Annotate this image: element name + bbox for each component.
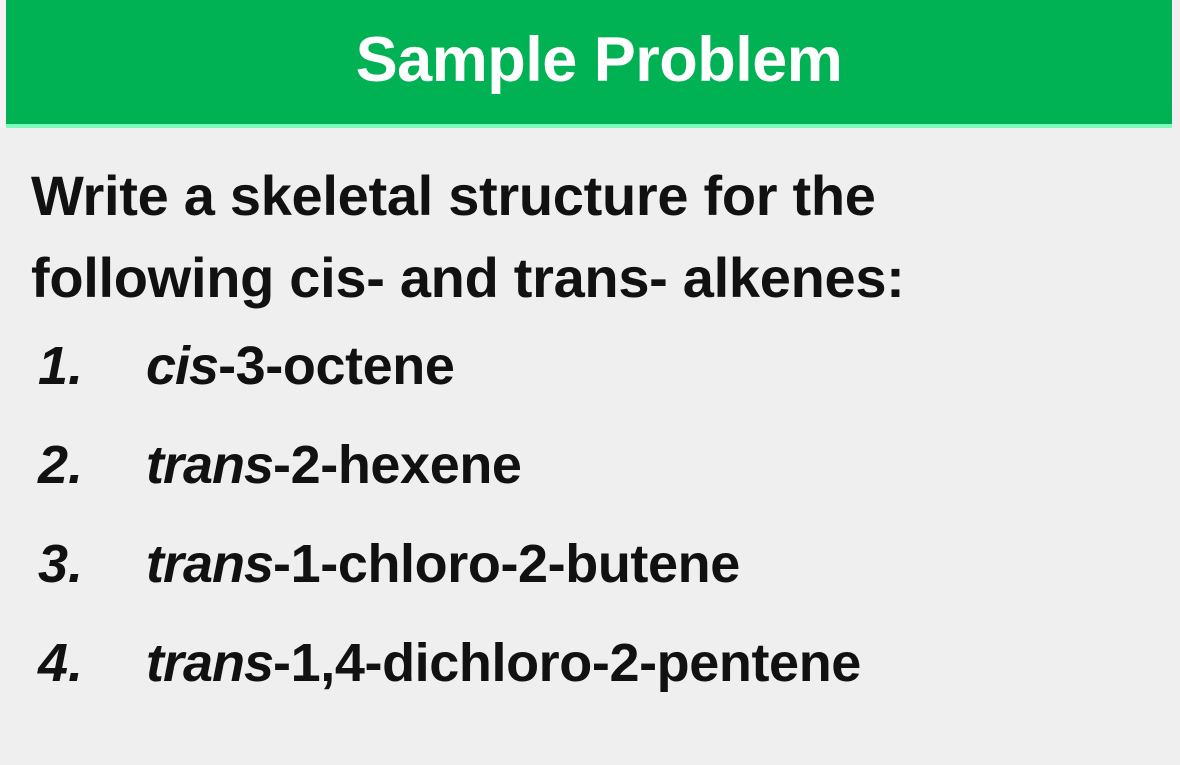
list-item-name-rest: -3-octene xyxy=(218,336,454,396)
page-title: Sample Problem xyxy=(356,29,843,96)
list-item-number: 2. xyxy=(38,425,133,505)
problem-statement-line-1: Write a skeletal structure for the xyxy=(31,155,1151,237)
list-item: 2. trans-2-hexene xyxy=(0,425,1180,524)
list-item-label: trans-2-hexene xyxy=(146,425,522,505)
problem-statement: Write a skeletal structure for the follo… xyxy=(31,155,1151,319)
header-banner: Sample Problem xyxy=(6,0,1172,124)
list-item-number: 1. xyxy=(38,326,133,406)
list-item-stereo-prefix: trans xyxy=(146,534,273,594)
list-item: 3. trans-1-chloro-2-butene xyxy=(0,524,1180,623)
list-item-number: 4. xyxy=(38,623,133,703)
slide-body: Write a skeletal structure for the follo… xyxy=(0,128,1180,765)
problem-list: 1. cis-3-octene 2. trans-2-hexene 3. tra… xyxy=(0,326,1180,722)
list-item-stereo-prefix: trans xyxy=(146,435,273,495)
list-item: 4. trans-1,4-dichloro-2-pentene xyxy=(0,623,1180,722)
list-item-stereo-prefix: cis xyxy=(146,336,218,396)
list-item-name-rest: -1-chloro-2-butene xyxy=(273,534,740,594)
slide-root: Sample Problem Write a skeletal structur… xyxy=(0,0,1180,765)
list-item: 1. cis-3-octene xyxy=(0,326,1180,425)
list-item-number: 3. xyxy=(38,524,133,604)
list-item-label: trans-1-chloro-2-butene xyxy=(146,524,740,604)
list-item-name-rest: -2-hexene xyxy=(273,435,522,495)
list-item-name-rest: -1,4-dichloro-2-pentene xyxy=(273,633,861,693)
list-item-label: cis-3-octene xyxy=(146,326,455,406)
list-item-stereo-prefix: trans xyxy=(146,633,273,693)
list-item-label: trans-1,4-dichloro-2-pentene xyxy=(146,623,861,703)
header-right-edge xyxy=(1172,0,1180,128)
problem-statement-line-2: following cis- and trans- alkenes: xyxy=(31,237,1151,319)
